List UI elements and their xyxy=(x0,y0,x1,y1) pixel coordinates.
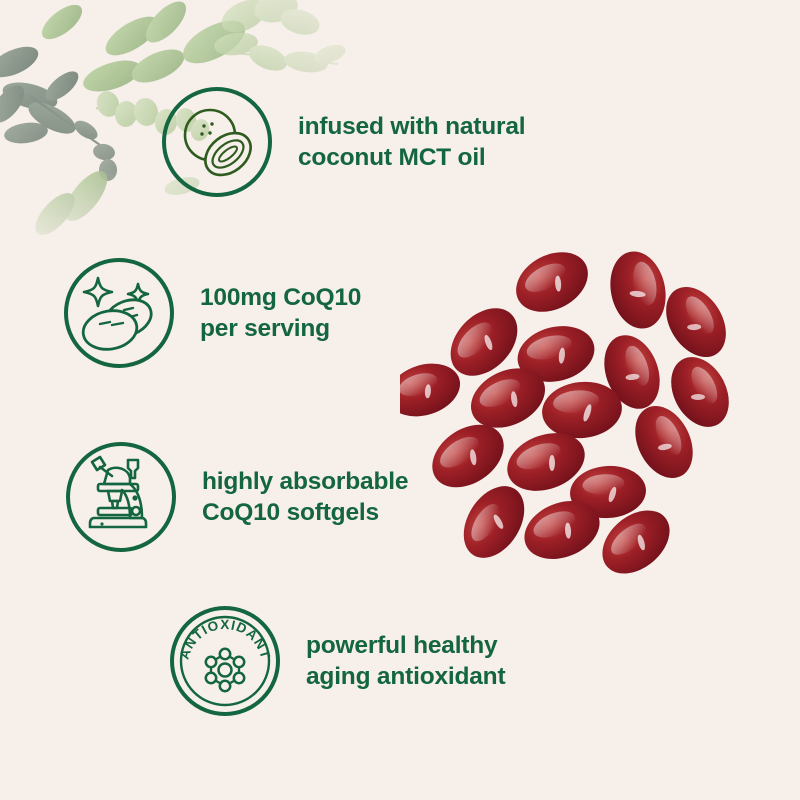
feature-row-absorbability: highly absorbable CoQ10 softgels xyxy=(64,440,408,554)
feature-row-antioxidant: ANTIOXIDANT powerful healthy aging antio… xyxy=(168,604,505,718)
feature-row-coconut-mct-oil: infused with natural coconut MCT oil xyxy=(160,85,525,199)
product-infographic: infused with natural coconut MCT oil 100… xyxy=(0,0,800,800)
coconut-icon xyxy=(160,85,274,199)
microscope-icon xyxy=(64,440,178,554)
feature-label: 100mg CoQ10 per serving xyxy=(200,282,361,344)
capsule-cluster xyxy=(400,240,740,580)
antioxidant-badge-icon: ANTIOXIDANT xyxy=(168,604,282,718)
feature-label: highly absorbable CoQ10 softgels xyxy=(202,466,408,528)
feature-label: infused with natural coconut MCT oil xyxy=(298,111,525,173)
softgels-sparkle-icon xyxy=(62,256,176,370)
coq10-softgel-capsules xyxy=(400,230,740,580)
feature-label: powerful healthy aging antioxidant xyxy=(306,630,505,692)
feature-row-coq10-dosage: 100mg CoQ10 per serving xyxy=(62,256,361,370)
